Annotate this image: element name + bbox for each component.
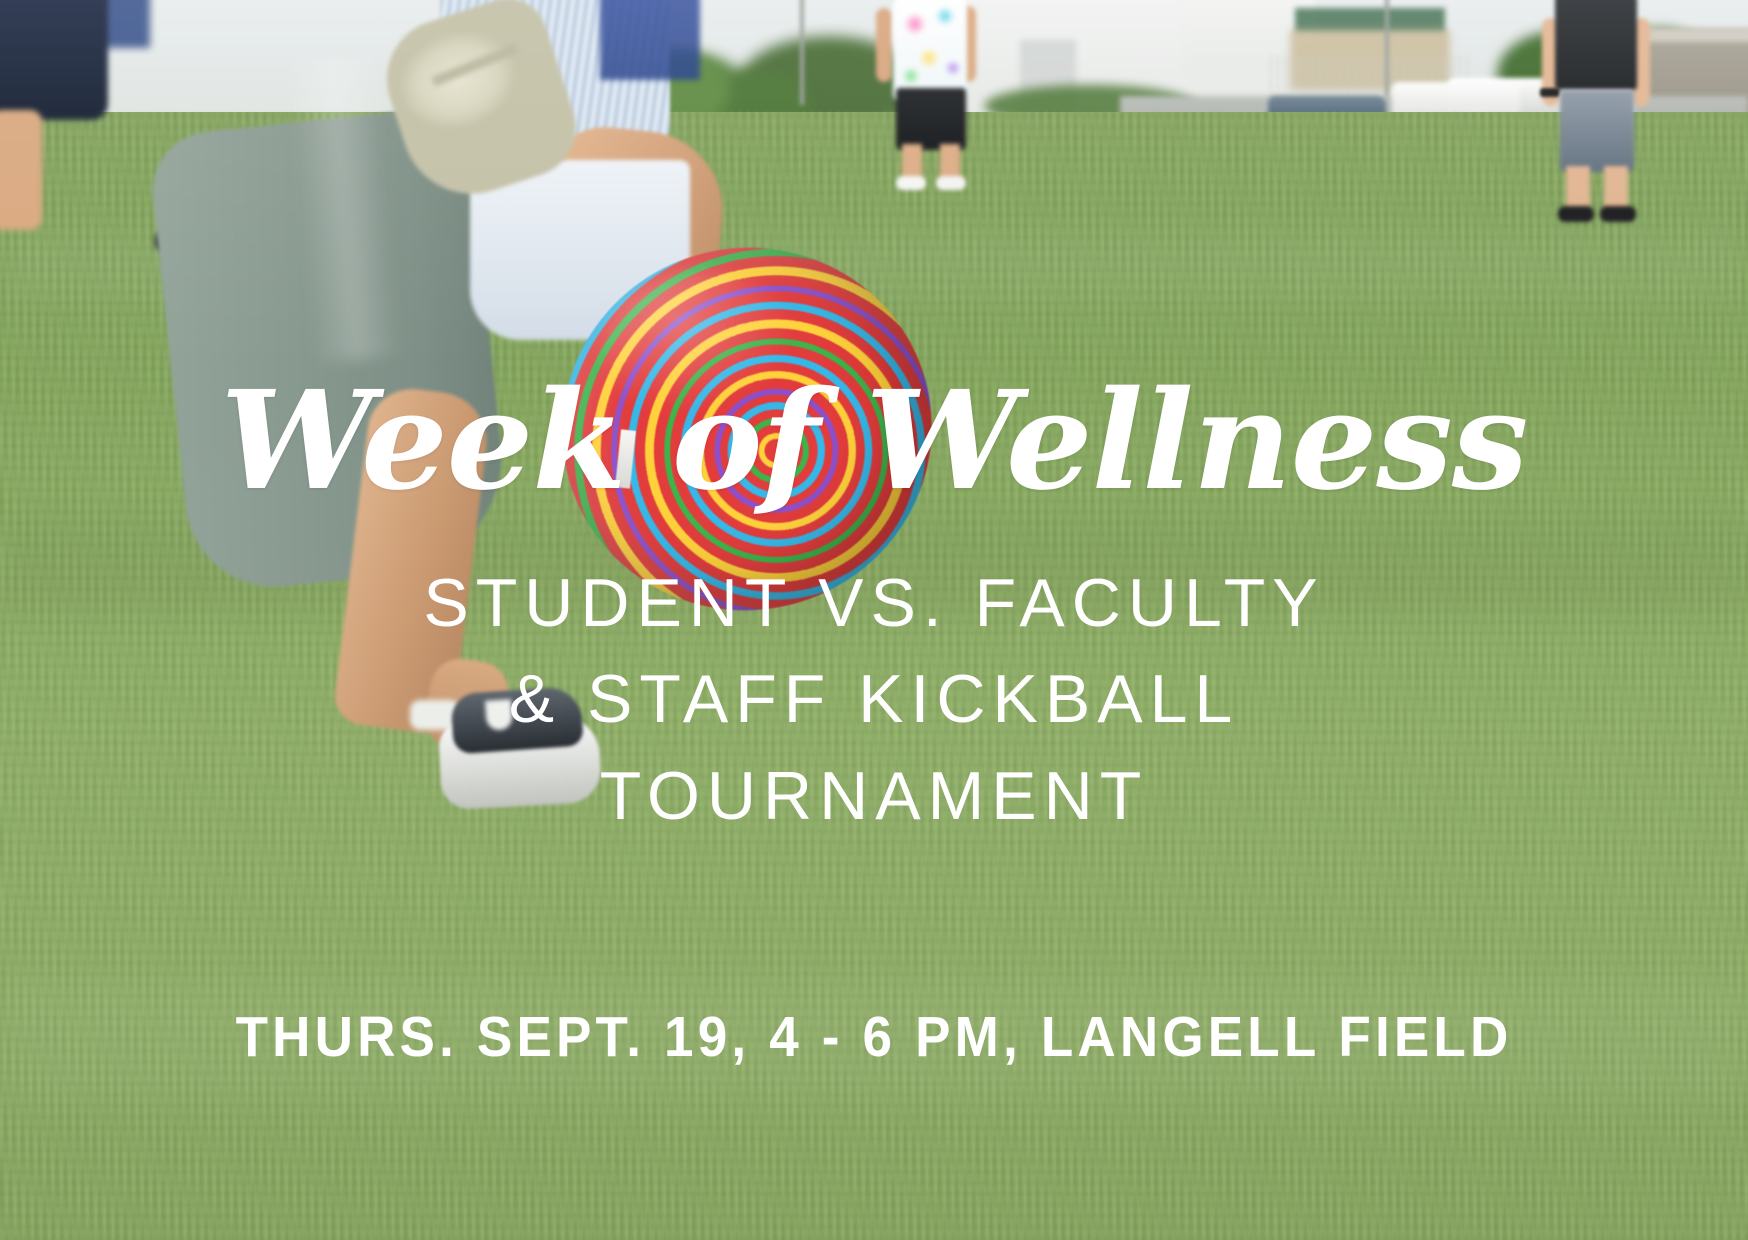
headline-line-2: & STAFF KICKBALL xyxy=(423,651,1324,748)
event-details: THURS. SEPT. 19, 4 - 6 PM, LANGELL FIELD xyxy=(61,1004,1687,1070)
poster-text-overlay: Week of Wellness STUDENT VS. FACULTY & S… xyxy=(0,0,1748,1240)
event-poster: Week of Wellness STUDENT VS. FACULTY & S… xyxy=(0,0,1748,1240)
poster-title: Week of Wellness xyxy=(221,372,1528,511)
poster-headline: STUDENT VS. FACULTY & STAFF KICKBALL TOU… xyxy=(423,555,1324,845)
headline-line-3: TOURNAMENT xyxy=(423,748,1324,845)
headline-line-1: STUDENT VS. FACULTY xyxy=(423,555,1324,652)
